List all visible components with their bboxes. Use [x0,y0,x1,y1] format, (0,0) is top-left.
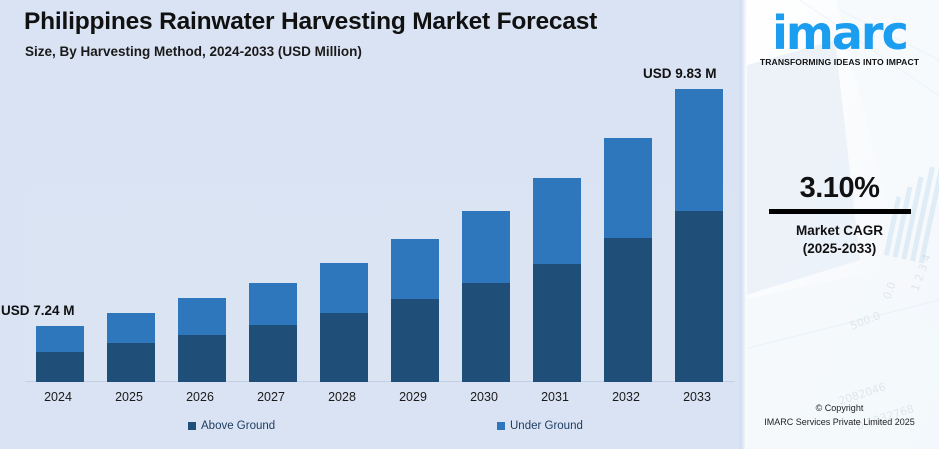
x-tick-2029: 2029 [379,390,447,404]
cagr-period: (2025-2033) [740,241,939,256]
bar-2028 [320,263,368,382]
bar-2025 [107,313,155,382]
chart-panel: Philippines Rainwater Harvesting Market … [0,0,740,449]
x-tick-2026: 2026 [166,390,234,404]
x-tick-2028: 2028 [308,390,376,404]
bar-segment-above-ground-2031 [533,264,581,382]
bar-segment-above-ground-2029 [391,299,439,382]
cagr-label: Market CAGR [740,221,939,241]
bar-2024 [36,326,84,382]
copyright-line-2: IMARC Services Private Limited 2025 [740,416,939,430]
legend-swatch-icon [497,422,505,430]
cagr-block: 3.10% Market CAGR (2025-2033) [740,172,939,256]
chart-subtitle: Size, By Harvesting Method, 2024-2033 (U… [25,44,362,59]
x-axis-labels: 2024202520262027202820292030203120322033 [25,390,735,410]
bar-segment-under-ground-2029 [391,239,439,299]
bar-segment-under-ground-2027 [249,283,297,325]
copyright-block: © Copyright IMARC Services Private Limit… [740,402,939,429]
bar-segment-above-ground-2026 [178,335,226,382]
x-tick-2032: 2032 [592,390,660,404]
bar-segment-above-ground-2032 [604,238,652,382]
legend-item-under-ground[interactable]: Under Ground [497,420,583,432]
bar-2030 [462,211,510,382]
bar-segment-under-ground-2032 [604,138,652,238]
legend-label: Above Ground [201,420,275,432]
legend-item-above-ground[interactable]: Above Ground [188,420,275,432]
bar-segment-under-ground-2026 [178,298,226,335]
x-tick-2030: 2030 [450,390,518,404]
legend-swatch-icon [188,422,196,430]
bar-segment-above-ground-2028 [320,313,368,382]
x-tick-2025: 2025 [95,390,163,404]
chart-page: Philippines Rainwater Harvesting Market … [0,0,939,449]
bar-2029 [391,239,439,382]
bar-segment-under-ground-2030 [462,211,510,283]
bar-segment-under-ground-2033 [675,89,723,211]
bar-segment-under-ground-2028 [320,263,368,313]
bar-segment-under-ground-2031 [533,178,581,264]
cagr-divider [769,209,911,214]
bar-2026 [178,298,226,382]
chart-legend: Above GroundUnder Ground [25,420,735,440]
bar-segment-above-ground-2025 [107,343,155,382]
copyright-line-1: © Copyright [740,402,939,416]
bar-segment-under-ground-2024 [36,326,84,352]
bar-2027 [249,283,297,382]
x-tick-2033: 2033 [663,390,731,404]
x-tick-2031: 2031 [521,390,589,404]
bar-segment-above-ground-2024 [36,352,84,382]
bar-segment-above-ground-2027 [249,325,297,382]
chart-title: Philippines Rainwater Harvesting Market … [24,8,597,36]
legend-label: Under Ground [510,420,583,432]
imarc-logo: imarc TRANSFORMING IDEAS INTO IMPACT [740,10,939,67]
bar-segment-under-ground-2025 [107,313,155,343]
bar-segment-above-ground-2030 [462,283,510,382]
cagr-value: 3.10% [740,172,939,205]
bar-2033 [675,89,723,382]
bar-2032 [604,138,652,382]
logo-wordmark: imarc [772,10,907,56]
bar-value-label-2024: USD 7.24 M [1,303,75,318]
bar-segment-above-ground-2033 [675,211,723,382]
x-tick-2024: 2024 [24,390,92,404]
bar-value-label-2033: USD 9.83 M [643,66,717,81]
plot-area: USD 7.24 MUSD 9.83 M [25,70,735,382]
brand-panel: 500.0 0.0 1 2 3 4 2082046 0.1832768 imar… [740,0,939,449]
bar-2031 [533,178,581,382]
x-tick-2027: 2027 [237,390,305,404]
